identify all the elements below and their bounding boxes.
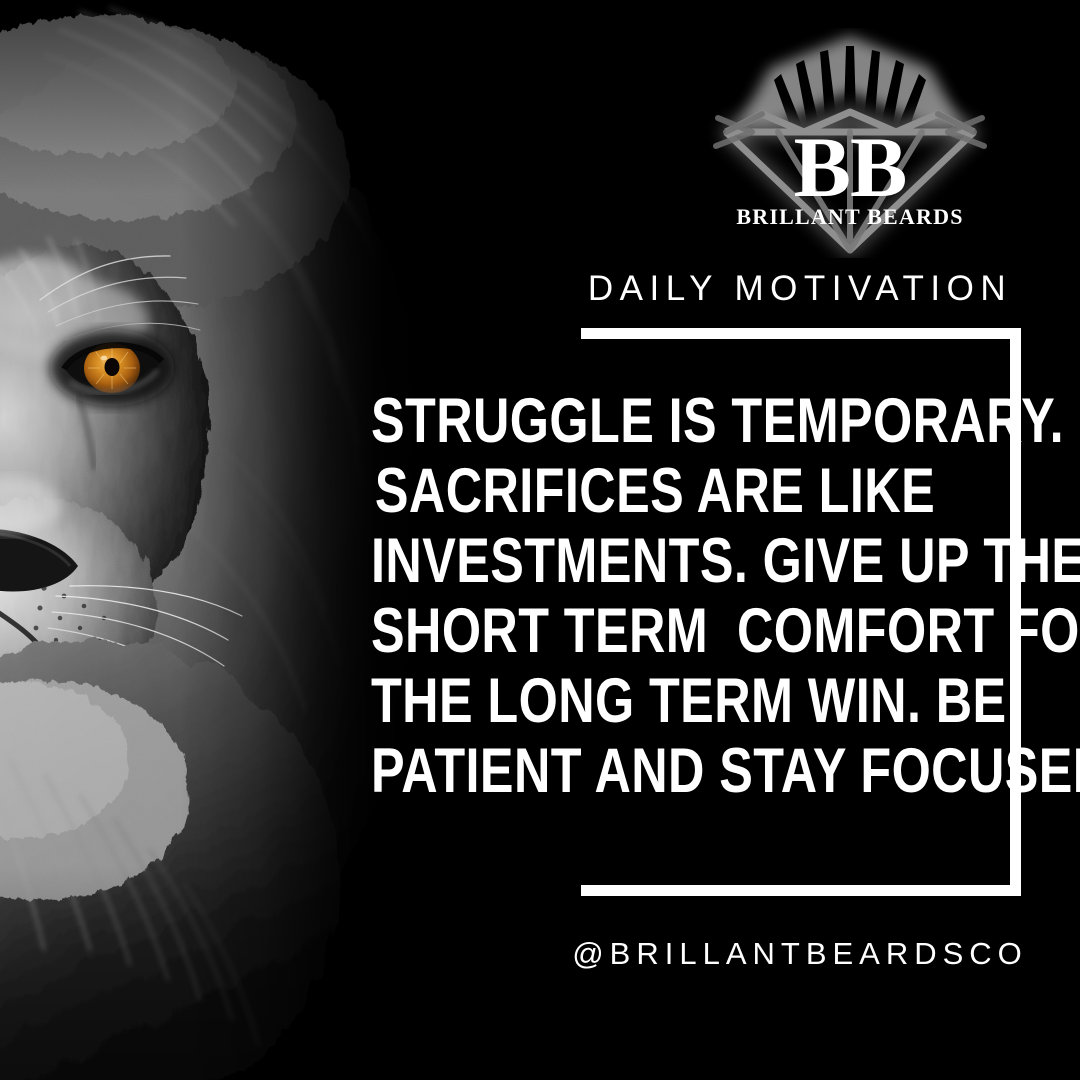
brand-logo: BB BRILLANT BEARDS <box>700 28 1000 258</box>
poster-canvas: BB BRILLANT BEARDS DAILY MOTIVATION STRU… <box>0 0 1080 1080</box>
frame-top-edge <box>581 328 1021 339</box>
kicker-daily-motivation: DAILY MOTIVATION <box>560 269 1040 309</box>
quote-line: THE LONG TERM WIN. BE <box>371 666 939 736</box>
frame-bottom-edge <box>581 885 1021 896</box>
social-handle[interactable]: @BRILLANTBEARDSCO <box>560 936 1040 972</box>
quote-line: INVESTMENTS. GIVE UP THE <box>371 526 939 596</box>
quote-line: STRUGGLE IS TEMPORARY. <box>371 386 939 456</box>
quote-line: SACRIFICES ARE LIKE <box>371 456 939 526</box>
logo-monogram: BB <box>794 119 907 215</box>
logo-wordmark: BRILLANT BEARDS <box>736 204 963 229</box>
quote-line: SHORT TERM COMFORT FOR <box>371 596 939 666</box>
quote-line: PATIENT AND STAY FOCUSED <box>371 736 939 806</box>
quote-block: STRUGGLE IS TEMPORARY. SACRIFICES ARE LI… <box>300 386 1010 806</box>
